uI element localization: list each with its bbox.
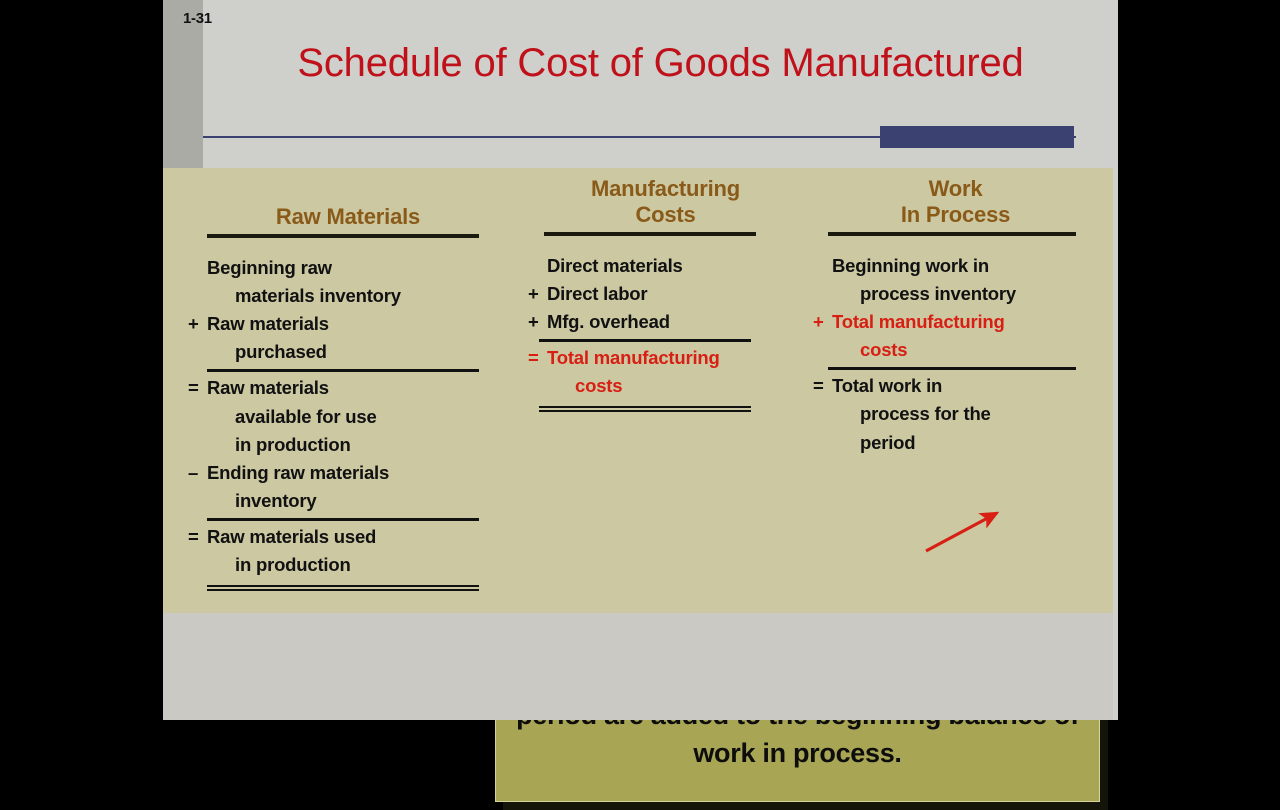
line-label: costs xyxy=(547,372,803,400)
schedule-line: –Ending raw materials xyxy=(188,459,508,487)
line-label: Beginning raw xyxy=(207,254,508,282)
column-heading-manufacturing-costs: Manufacturing Costs xyxy=(528,168,803,228)
schedule-line: costs xyxy=(813,336,1098,364)
line-label: inventory xyxy=(207,487,508,515)
schedule-line: Beginning work in xyxy=(813,252,1098,280)
slide-footer xyxy=(163,613,1113,720)
slide-number: 1-31 xyxy=(183,10,212,27)
line-label: Total work in xyxy=(832,372,1098,400)
subtotal-rule xyxy=(539,339,751,342)
schedule-line: in production xyxy=(188,431,508,459)
line-label: Raw materials used xyxy=(207,523,508,551)
line-operator xyxy=(188,551,207,579)
line-label: process for the xyxy=(832,400,1098,428)
column-heading-rule xyxy=(544,232,756,236)
schedule-line: +Direct labor xyxy=(528,280,803,308)
schedule-line: available for use xyxy=(188,403,508,431)
subtotal-rule xyxy=(828,367,1076,370)
line-operator xyxy=(188,431,207,459)
line-label: purchased xyxy=(207,338,508,366)
red-arrow-icon xyxy=(913,493,1013,563)
column-heading-line2: In Process xyxy=(813,202,1098,228)
line-operator: = xyxy=(188,523,207,551)
line-operator: + xyxy=(528,308,547,336)
column-lines-work-in-process: Beginning work inprocess inventory+Total… xyxy=(813,252,1098,457)
schedule-line: =Raw materials used xyxy=(188,523,508,551)
schedule-line: process inventory xyxy=(813,280,1098,308)
schedule-line: =Raw materials xyxy=(188,374,508,402)
schedule-line: =Total manufacturing xyxy=(528,344,803,372)
total-double-rule xyxy=(207,585,479,591)
column-heading-raw-materials: Raw Materials xyxy=(188,168,508,230)
line-label: in production xyxy=(207,431,508,459)
column-lines-manufacturing-costs: Direct materials+Direct labor+Mfg. overh… xyxy=(528,252,803,413)
schedule-line: in production xyxy=(188,551,508,579)
line-operator: – xyxy=(188,459,207,487)
slide-header: 1-31 Schedule of Cost of Goods Manufactu… xyxy=(163,0,1118,168)
column-heading-work-in-process: Work In Process xyxy=(813,168,1098,228)
title-accent-block xyxy=(880,126,1074,148)
line-operator xyxy=(813,400,832,428)
line-label: available for use xyxy=(207,403,508,431)
line-label: Beginning work in xyxy=(832,252,1098,280)
schedule-line: period xyxy=(813,429,1098,457)
line-label: Total manufacturing xyxy=(832,308,1098,336)
line-operator: = xyxy=(813,372,832,400)
line-operator xyxy=(813,336,832,364)
column-heading-rule xyxy=(828,232,1076,236)
column-heading-line1: Work xyxy=(813,176,1098,202)
line-operator: = xyxy=(528,344,547,372)
line-label: Raw materials xyxy=(207,374,508,402)
schedule-line: +Mfg. overhead xyxy=(528,308,803,336)
schedule-line: +Raw materials xyxy=(188,310,508,338)
line-operator xyxy=(188,338,207,366)
line-operator xyxy=(188,487,207,515)
line-operator: + xyxy=(188,310,207,338)
line-label: Raw materials xyxy=(207,310,508,338)
subtotal-rule xyxy=(207,518,479,521)
schedule-line: costs xyxy=(528,372,803,400)
line-label: Total manufacturing xyxy=(547,344,803,372)
slide-body: Raw Materials Beginning rawmaterials inv… xyxy=(163,168,1113,613)
line-operator xyxy=(813,280,832,308)
line-operator xyxy=(188,403,207,431)
line-label: materials inventory xyxy=(207,282,508,310)
line-operator: + xyxy=(813,308,832,336)
column-heading-rule xyxy=(207,234,479,238)
line-label: process inventory xyxy=(832,280,1098,308)
column-heading-line1: Raw Materials xyxy=(276,204,420,229)
line-label: Direct materials xyxy=(547,252,803,280)
schedule-line: inventory xyxy=(188,487,508,515)
schedule-line: +Total manufacturing xyxy=(813,308,1098,336)
schedule-line: Beginning raw xyxy=(188,254,508,282)
slide-canvas: 1-31 Schedule of Cost of Goods Manufactu… xyxy=(163,0,1118,720)
schedule-line: Direct materials xyxy=(528,252,803,280)
line-label: in production xyxy=(207,551,508,579)
column-work-in-process: Work In Process Beginning work inprocess… xyxy=(813,168,1098,457)
line-operator xyxy=(813,252,832,280)
line-operator xyxy=(528,372,547,400)
subtotal-rule xyxy=(207,369,479,372)
line-label: period xyxy=(832,429,1098,457)
line-operator: + xyxy=(528,280,547,308)
line-operator: = xyxy=(188,374,207,402)
line-label: Ending raw materials xyxy=(207,459,508,487)
schedule-line: materials inventory xyxy=(188,282,508,310)
line-label: Mfg. overhead xyxy=(547,308,803,336)
line-operator xyxy=(813,429,832,457)
schedule-line: =Total work in xyxy=(813,372,1098,400)
schedule-line: purchased xyxy=(188,338,508,366)
line-operator xyxy=(528,252,547,280)
column-manufacturing-costs: Manufacturing Costs Direct materials+Dir… xyxy=(528,168,803,414)
column-heading-line2: Costs xyxy=(528,202,803,228)
line-label: Direct labor xyxy=(547,280,803,308)
line-label: costs xyxy=(832,336,1098,364)
page-title: Schedule of Cost of Goods Manufactured xyxy=(203,41,1118,86)
column-heading-line1: Manufacturing xyxy=(528,176,803,202)
line-operator xyxy=(188,254,207,282)
line-operator xyxy=(188,282,207,310)
column-raw-materials: Raw Materials Beginning rawmaterials inv… xyxy=(188,168,508,593)
column-lines-raw-materials: Beginning rawmaterials inventory+Raw mat… xyxy=(188,254,508,591)
schedule-line: process for the xyxy=(813,400,1098,428)
total-double-rule xyxy=(539,406,751,412)
